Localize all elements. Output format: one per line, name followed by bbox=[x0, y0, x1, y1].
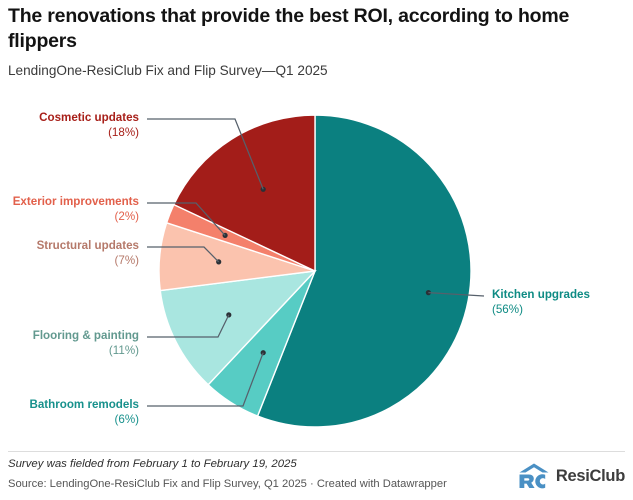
pie-callout-label-name: Cosmetic updates bbox=[39, 111, 139, 124]
pie-callout-label: Bathroom remodels(6%) bbox=[0, 398, 139, 428]
pie-callout-label: Exterior improvements(2%) bbox=[0, 195, 139, 225]
pie-callout-label-value: (6%) bbox=[0, 413, 139, 428]
footer-source: Source: LendingOne-ResiClub Fix and Flip… bbox=[8, 477, 508, 492]
pie-callout-label-name: Bathroom remodels bbox=[29, 398, 139, 411]
pie-callout-label-name: Kitchen upgrades bbox=[492, 288, 590, 301]
pie-callout-label-value: (7%) bbox=[0, 254, 139, 269]
pie-callout-label-value: (2%) bbox=[0, 210, 139, 225]
pie-callout-label: Flooring & painting(11%) bbox=[0, 329, 139, 359]
pie-callout-label-value: (18%) bbox=[0, 126, 139, 141]
pie-callout-label: Structural updates(7%) bbox=[0, 239, 139, 269]
pie-callout-label-value: (56%) bbox=[492, 303, 590, 318]
pie-slice-group bbox=[159, 115, 471, 427]
pie-callout-label: Cosmetic updates(18%) bbox=[0, 111, 139, 141]
pie-callout-label-name: Structural updates bbox=[37, 239, 139, 252]
resiclub-roof-logo-icon bbox=[517, 463, 551, 489]
resiclub-logo: ResiClub bbox=[517, 463, 625, 489]
footer-note: Survey was fielded from February 1 to Fe… bbox=[8, 457, 508, 472]
chart-footer: Survey was fielded from February 1 to Fe… bbox=[8, 457, 508, 493]
pie-plot-area bbox=[0, 0, 633, 452]
pie-callout-label-name: Exterior improvements bbox=[13, 195, 139, 208]
pie-callout-label: Kitchen upgrades(56%) bbox=[492, 288, 590, 318]
pie-callout-label-name: Flooring & painting bbox=[33, 329, 139, 342]
pie-chart-figure: The renovations that provide the best RO… bbox=[0, 0, 633, 500]
pie-callout-label-value: (11%) bbox=[0, 344, 139, 359]
pie-svg bbox=[0, 0, 633, 452]
footer-divider bbox=[8, 451, 625, 452]
resiclub-logo-text: ResiClub bbox=[556, 467, 625, 486]
